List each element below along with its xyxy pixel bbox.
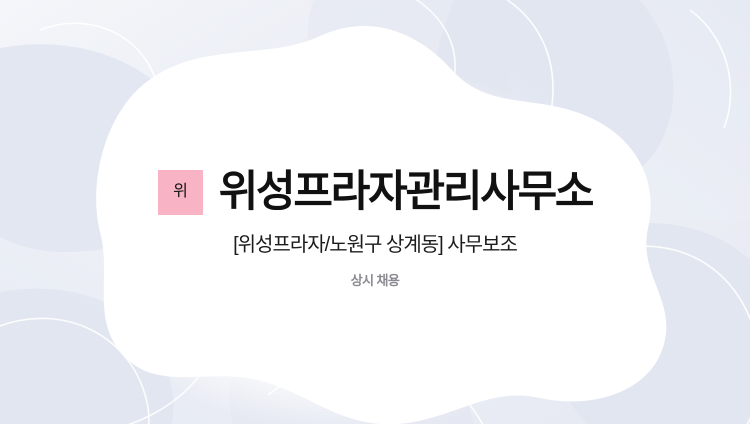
- job-title: [위성프라자/노원구 상계동] 사무보조: [0, 228, 750, 257]
- job-posting-banner: 위 위성프라자관리사무소 [위성프라자/노원구 상계동] 사무보조 상시 채용: [0, 0, 750, 424]
- recruitment-status: 상시 채용: [0, 270, 750, 289]
- company-logo-badge: 위: [158, 170, 203, 215]
- company-name: 위성프라자관리사무소: [219, 170, 593, 215]
- banner-content: 위 위성프라자관리사무소 [위성프라자/노원구 상계동] 사무보조 상시 채용: [0, 0, 750, 424]
- company-logo-initial: 위: [173, 184, 187, 200]
